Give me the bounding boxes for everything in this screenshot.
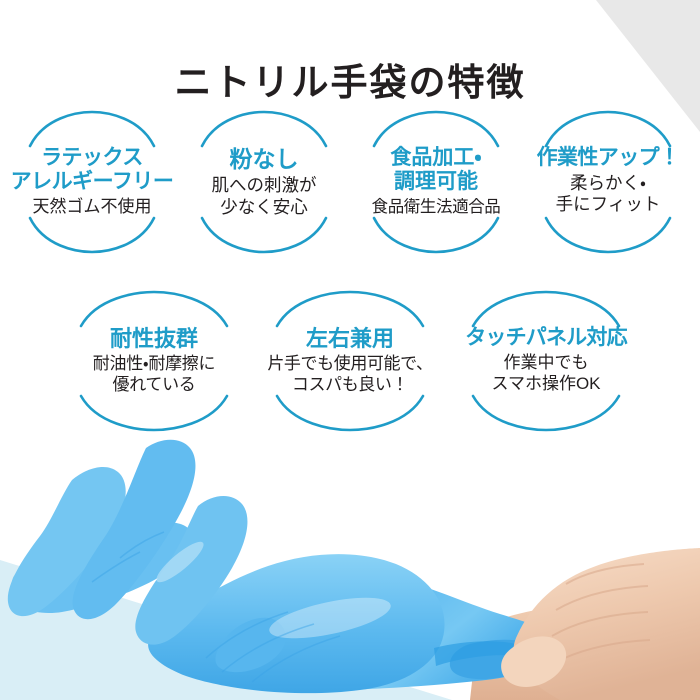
feature-powder-free: 粉なし 肌への刺激が 少なく安心 (178, 112, 350, 252)
feature-subtext: 作業中でも スマホ操作OK (450, 353, 642, 394)
feature-headline: ラテックス アレルギーフリー (8, 146, 176, 194)
infographic-canvas: ニトリル手袋の特徴 ラテックス アレルギーフリー 天然ゴム不使用 粉なし 肌への… (0, 0, 700, 700)
feature-headline: 食品加工・ 調理可能 (352, 146, 520, 194)
feature-durability: 耐性抜群 耐油性・耐摩擦に 優れている (56, 292, 252, 430)
feature-workability: 作業性アップ！ 柔らかく・ 手にフィット (522, 112, 694, 252)
feature-subtext: 食品衛生法適合品 (352, 197, 520, 217)
page-title: ニトリル手袋の特徴 (0, 61, 700, 105)
feature-subtext: 天然ゴム不使用 (8, 197, 176, 218)
feature-subtext: 肌への刺激が 少なく安心 (180, 175, 348, 218)
feature-subtext: 片手でも使用可能で、 コスパも良い！ (254, 354, 446, 395)
feature-headline: 粉なし (180, 146, 348, 172)
feature-latex-allergy-free: ラテックス アレルギーフリー 天然ゴム不使用 (6, 112, 178, 252)
feature-subtext: 耐油性・耐摩擦に 優れている (58, 354, 250, 395)
feature-row-1: ラテックス アレルギーフリー 天然ゴム不使用 粉なし 肌への刺激が 少なく安心 (0, 112, 700, 252)
feature-touchscreen: タッチパネル対応 作業中でも スマホ操作OK (448, 292, 644, 430)
feature-headline: 耐性抜群 (58, 326, 250, 351)
feature-subtext: 柔らかく・ 手にフィット (524, 173, 692, 216)
feature-headline: 作業性アップ！ (524, 146, 692, 170)
feature-headline: 左右兼用 (254, 326, 446, 351)
feature-food-safe: 食品加工・ 調理可能 食品衛生法適合品 (350, 112, 522, 252)
feature-row-2: 耐性抜群 耐油性・耐摩擦に 優れている 左右兼用 片手でも使用可能で、 コスパも… (0, 292, 700, 430)
product-photo (0, 432, 700, 700)
feature-ambidextrous: 左右兼用 片手でも使用可能で、 コスパも良い！ (252, 292, 448, 430)
feature-headline: タッチパネル対応 (450, 326, 642, 350)
